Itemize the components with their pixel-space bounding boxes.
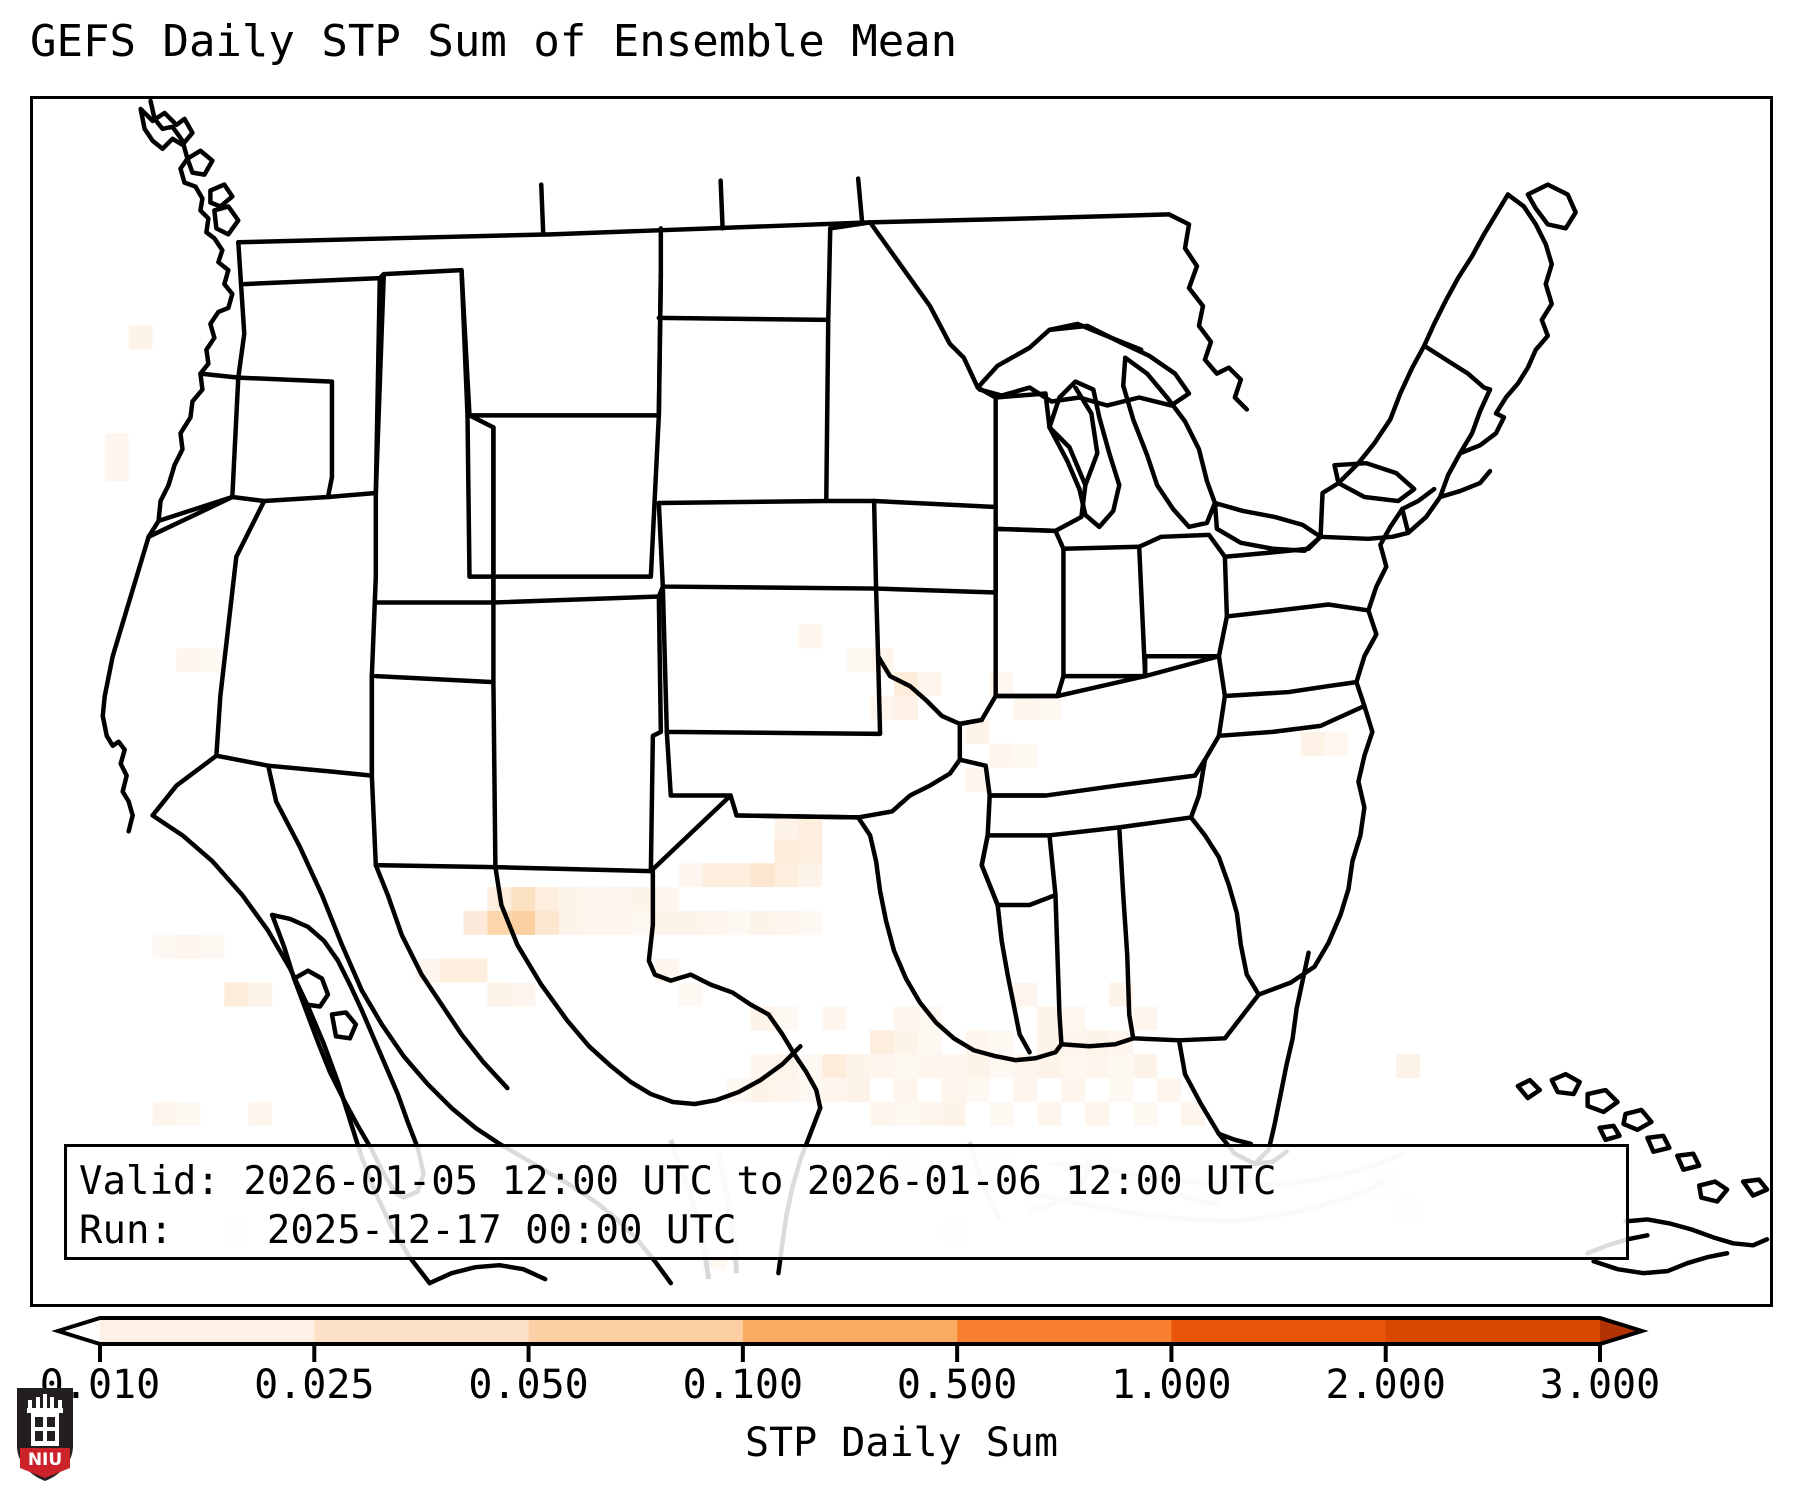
colorbar-tick-label: 0.500: [897, 1362, 1017, 1408]
colorbar-segments: [58, 1318, 1642, 1344]
colorbar-segment: [100, 1318, 315, 1344]
valid-time-line: Valid: 2026-01-05 12:00 UTC to 2026-01-0…: [79, 1157, 1626, 1206]
colorbar-tick-label: 3.000: [1540, 1362, 1660, 1408]
colorbar-axis-label: STP Daily Sum: [0, 1420, 1803, 1466]
data-cells: [105, 326, 1420, 1269]
colorbar-segment: [1386, 1318, 1601, 1344]
niu-banner-text: NIU: [28, 1450, 62, 1470]
run-time-line: Run: 2025-12-17 00:00 UTC: [79, 1206, 1626, 1255]
colorbar-segment: [314, 1318, 529, 1344]
colorbar-svg: [0, 1310, 1803, 1370]
colorbar-tick-label: 1.000: [1111, 1362, 1231, 1408]
colorbar-segment: [529, 1318, 744, 1344]
colorbar-tick-label: 0.050: [468, 1362, 588, 1408]
colorbar-segment: [957, 1318, 1172, 1344]
colorbar-ticks: [100, 1344, 1600, 1362]
niu-logo: NIU: [14, 1384, 76, 1484]
colorbar-tick-label: 0.025: [254, 1362, 374, 1408]
colorbar: [0, 1310, 1803, 1370]
colorbar-tick-label: 2.000: [1325, 1362, 1445, 1408]
colorbar-tick-label: 0.100: [683, 1362, 803, 1408]
map-canvas: [33, 99, 1770, 1304]
colorbar-segment: [743, 1318, 958, 1344]
map-frame: [30, 96, 1773, 1307]
page-title: GEFS Daily STP Sum of Ensemble Mean: [30, 16, 957, 67]
colorbar-segment: [1171, 1318, 1386, 1344]
info-box: Valid: 2026-01-05 12:00 UTC to 2026-01-0…: [64, 1144, 1629, 1260]
